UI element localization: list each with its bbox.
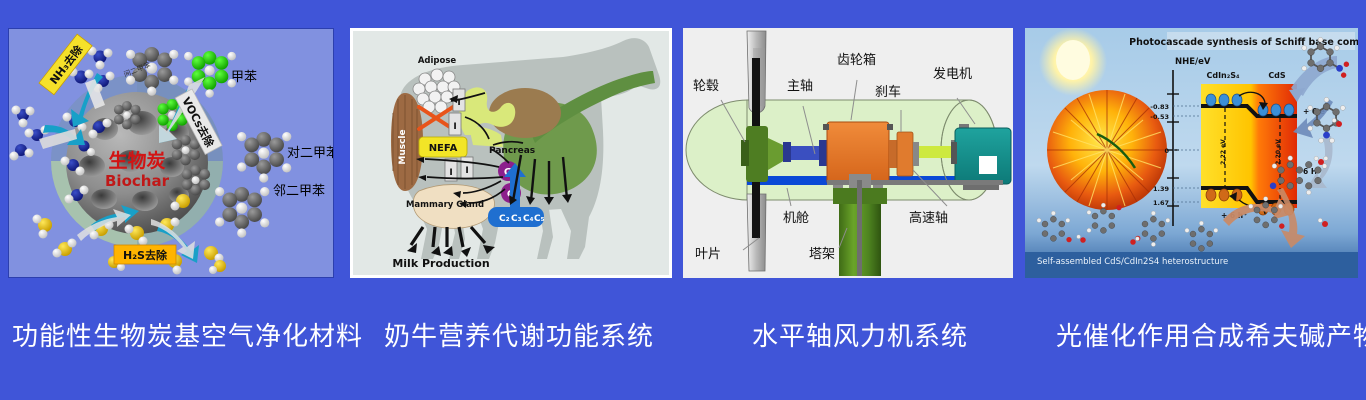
svg-text:I: I (453, 122, 456, 132)
biochar-illustration: 生物炭 Biochar (9, 29, 333, 277)
panel-dairy-cow-metabolism[interactable]: Muscle Adipose (350, 28, 672, 278)
nefa-box: NEFA (419, 137, 467, 157)
label-muscle: Muscle (398, 129, 408, 164)
label-blade: 叶片 (695, 247, 721, 262)
label-tower: 塔架 (809, 247, 835, 262)
caption-wind-turbine: 水平轴风力机系统 (752, 316, 968, 353)
caption-row: 功能性生物炭基空气净化材料 奶牛营养代谢功能系统 水平轴风力机系统 光催化作用合… (0, 300, 1366, 400)
svg-text:C₂: C₂ (499, 214, 510, 224)
label-nefa: NEFA (429, 143, 458, 154)
label-brake: 刹车 (875, 84, 901, 100)
label-hub: 轮毂 (693, 79, 719, 94)
label-cds: CdS (1268, 71, 1286, 80)
label-cdin2s4: CdIn₂S₄ (1206, 71, 1240, 80)
caption-photocatalysis: 光催化作用合成希夫碱产物 (1056, 316, 1366, 353)
tag-h2s-removal-label: H₂S去除 (123, 248, 168, 262)
svg-text:C₄: C₄ (523, 214, 534, 224)
showcase-banner: 生物炭 Biochar (0, 0, 1366, 400)
caption-dairy-cow: 奶牛营养代谢功能系统 (384, 316, 654, 353)
sun-core (1056, 40, 1090, 80)
label-adipose: Adipose (418, 56, 457, 66)
label-heterostructure-footer: Self-assembled CdS/CdIn2S4 heterostructu… (1037, 257, 1228, 267)
svg-text:C₅: C₅ (534, 214, 545, 224)
caption-biochar: 功能性生物炭基空气净化材料 (12, 316, 363, 353)
label-bandgap-1: 2.22 eV (1220, 139, 1227, 165)
biochar-center-label-cn: 生物炭 (108, 149, 165, 172)
label-toluene: 甲苯 (231, 70, 257, 85)
catalyst-microsphere (1047, 90, 1167, 210)
cow-metabolism-diagram: Muscle Adipose (353, 31, 669, 275)
label-milk-production: Milk Production (392, 257, 489, 270)
label-p-xylene: 对二甲苯 (287, 146, 333, 161)
label-nhe-axis: NHE/eV (1175, 57, 1211, 67)
wind-turbine-diagram: 轮毂 主轴 齿轮箱 刹车 发电机 机舱 高速轴 塔架 叶片 (683, 28, 1013, 278)
panel-biochar-air-purification[interactable]: 生物炭 Biochar (8, 28, 334, 278)
tick-1.39: 1.39 (1153, 185, 1170, 193)
svg-text:Mammary Gland: Mammary Gland (406, 200, 484, 210)
tag-h2s-removal: H₂S去除 (114, 245, 176, 264)
tick--0.83: -0.83 (1150, 103, 1169, 111)
photocatalysis-diagram: Photocascade synthesis of Schiff base co… (1025, 28, 1358, 278)
label-high-speed-shaft: 高速轴 (909, 210, 948, 226)
svg-text:I: I (465, 166, 468, 176)
panel-photocatalysis[interactable]: Photocascade synthesis of Schiff base co… (1025, 28, 1358, 278)
label-bandgap-2: 2.20 eV (1275, 139, 1282, 165)
label-main-shaft: 主轴 (787, 79, 813, 94)
tick--0.53: -0.53 (1150, 113, 1169, 121)
svg-text:C₃: C₃ (511, 214, 522, 224)
tick-1.67: 1.67 (1153, 199, 1169, 207)
tick-0: 0 (1164, 147, 1169, 155)
label-gearbox: 齿轮箱 (837, 52, 876, 68)
label-generator: 发电机 (933, 66, 972, 82)
label-o-xylene: 邻二甲苯 (273, 184, 325, 199)
svg-text:I: I (449, 168, 452, 178)
tower-shape (833, 174, 887, 276)
panel-wind-turbine[interactable]: 轮毂 主轴 齿轮箱 刹车 发电机 机舱 高速轴 塔架 叶片 (683, 28, 1013, 278)
label-nacelle: 机舱 (783, 211, 809, 226)
panel-strip: 生物炭 Biochar (0, 0, 1366, 300)
biochar-center-label-en: Biochar (105, 172, 170, 190)
